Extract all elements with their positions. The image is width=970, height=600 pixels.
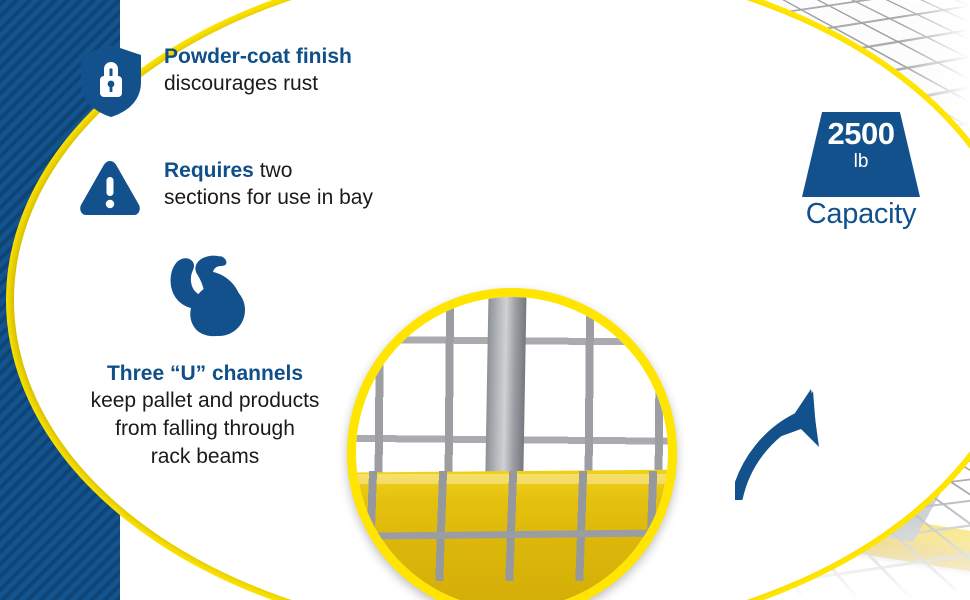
feature-text: Three “U” channels keep pallet and produ… xyxy=(91,361,320,471)
magnified-u-channel xyxy=(485,288,526,480)
feature-three-u-channels: Three “U” channels keep pallet and produ… xyxy=(60,252,350,471)
feature-text: Powder-coat finish discourages rust xyxy=(164,44,352,97)
feature-subline: sections for use in bay xyxy=(164,184,373,211)
shield-lock-icon xyxy=(80,44,142,123)
weight-body: 2500 lb xyxy=(802,112,920,197)
weight-icon: 2500 lb xyxy=(802,112,920,197)
capacity-badge: 2500 lb Capacity xyxy=(766,88,956,238)
feature-requires-two-sections: Requires two sections for use in bay xyxy=(78,158,373,223)
infographic-canvas: 2500 lb Capacity Powder-coat finish disc… xyxy=(0,0,970,600)
feature-list: Powder-coat finish discourages rust Requ… xyxy=(0,0,420,600)
warning-triangle-icon xyxy=(78,158,142,223)
feature-subline-2: from falling through xyxy=(91,415,320,443)
curved-arrow-up-right xyxy=(735,375,865,500)
feature-subline-1: keep pallet and products xyxy=(91,387,320,415)
capacity-label: Capacity xyxy=(766,198,956,231)
feature-headline: Three “U” channels xyxy=(91,361,320,387)
feature-headline: Powder-coat finish xyxy=(164,44,352,70)
capacity-unit: lb xyxy=(802,151,920,173)
capacity-number: 2500 xyxy=(802,117,920,151)
flexed-bicep-icon xyxy=(157,252,253,347)
feature-powder-coat: Powder-coat finish discourages rust xyxy=(80,44,352,123)
feature-subline-3: rack beams xyxy=(91,443,320,471)
feature-subline: discourages rust xyxy=(164,70,352,97)
feature-headline: Requires two xyxy=(164,158,373,184)
feature-text: Requires two sections for use in bay xyxy=(164,158,373,211)
